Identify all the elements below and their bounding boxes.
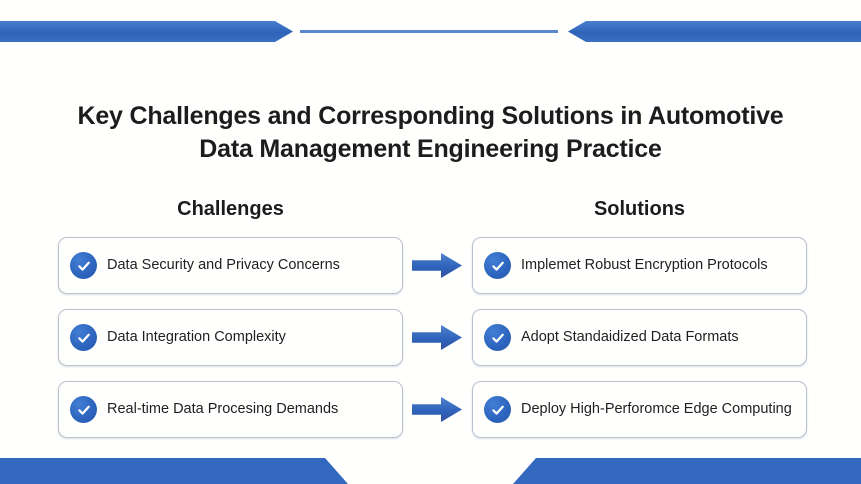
- solution-label: Implemet Robust Encryption Protocols: [521, 256, 768, 274]
- slide-title: Key Challenges and Corresponding Solutio…: [0, 100, 861, 166]
- top-decoration: [0, 0, 861, 60]
- bottom-left-angled-bar: [0, 458, 348, 484]
- slide-title-line-1: Key Challenges and Corresponding Solutio…: [0, 100, 861, 133]
- check-circle-icon: [484, 396, 511, 423]
- challenge-card[interactable]: Data Security and Privacy Concerns: [58, 237, 403, 294]
- solution-card[interactable]: Adopt Standaidized Data Formats: [472, 309, 807, 366]
- column-header-challenges: Challenges: [58, 198, 403, 221]
- check-circle-icon: [484, 252, 511, 279]
- solution-card[interactable]: Deploy High-Perforomce Edge Computing: [472, 381, 807, 438]
- pair-row: Real-time Data Procesing Demands Deploy …: [0, 381, 861, 438]
- solution-label: Adopt Standaidized Data Formats: [521, 328, 739, 346]
- arrow-right-icon: [412, 253, 462, 278]
- check-circle-icon: [70, 396, 97, 423]
- challenge-label: Real-time Data Procesing Demands: [107, 400, 338, 418]
- column-header-solutions: Solutions: [472, 198, 807, 221]
- arrow-right-icon: [412, 325, 462, 350]
- check-circle-icon: [70, 252, 97, 279]
- check-circle-icon: [484, 324, 511, 351]
- challenge-card[interactable]: Real-time Data Procesing Demands: [58, 381, 403, 438]
- bottom-right-angled-bar: [513, 458, 861, 484]
- pair-row: Data Security and Privacy Concerns Imple…: [0, 237, 861, 294]
- challenge-label: Data Security and Privacy Concerns: [107, 256, 340, 274]
- top-left-chevron-bar: [0, 21, 293, 42]
- pair-row: Data Integration Complexity Adopt Standa…: [0, 309, 861, 366]
- arrow-right-icon: [412, 397, 462, 422]
- solution-card[interactable]: Implemet Robust Encryption Protocols: [472, 237, 807, 294]
- challenge-label: Data Integration Complexity: [107, 328, 286, 346]
- challenge-card[interactable]: Data Integration Complexity: [58, 309, 403, 366]
- pairs-list: Data Security and Privacy Concerns Imple…: [0, 237, 861, 453]
- slide-title-line-2: Data Management Engineering Practice: [0, 133, 861, 166]
- top-center-rule: [300, 30, 558, 33]
- solution-label: Deploy High-Perforomce Edge Computing: [521, 400, 792, 418]
- top-right-chevron-bar: [568, 21, 861, 42]
- check-circle-icon: [70, 324, 97, 351]
- slide-canvas: Key Challenges and Corresponding Solutio…: [0, 0, 861, 484]
